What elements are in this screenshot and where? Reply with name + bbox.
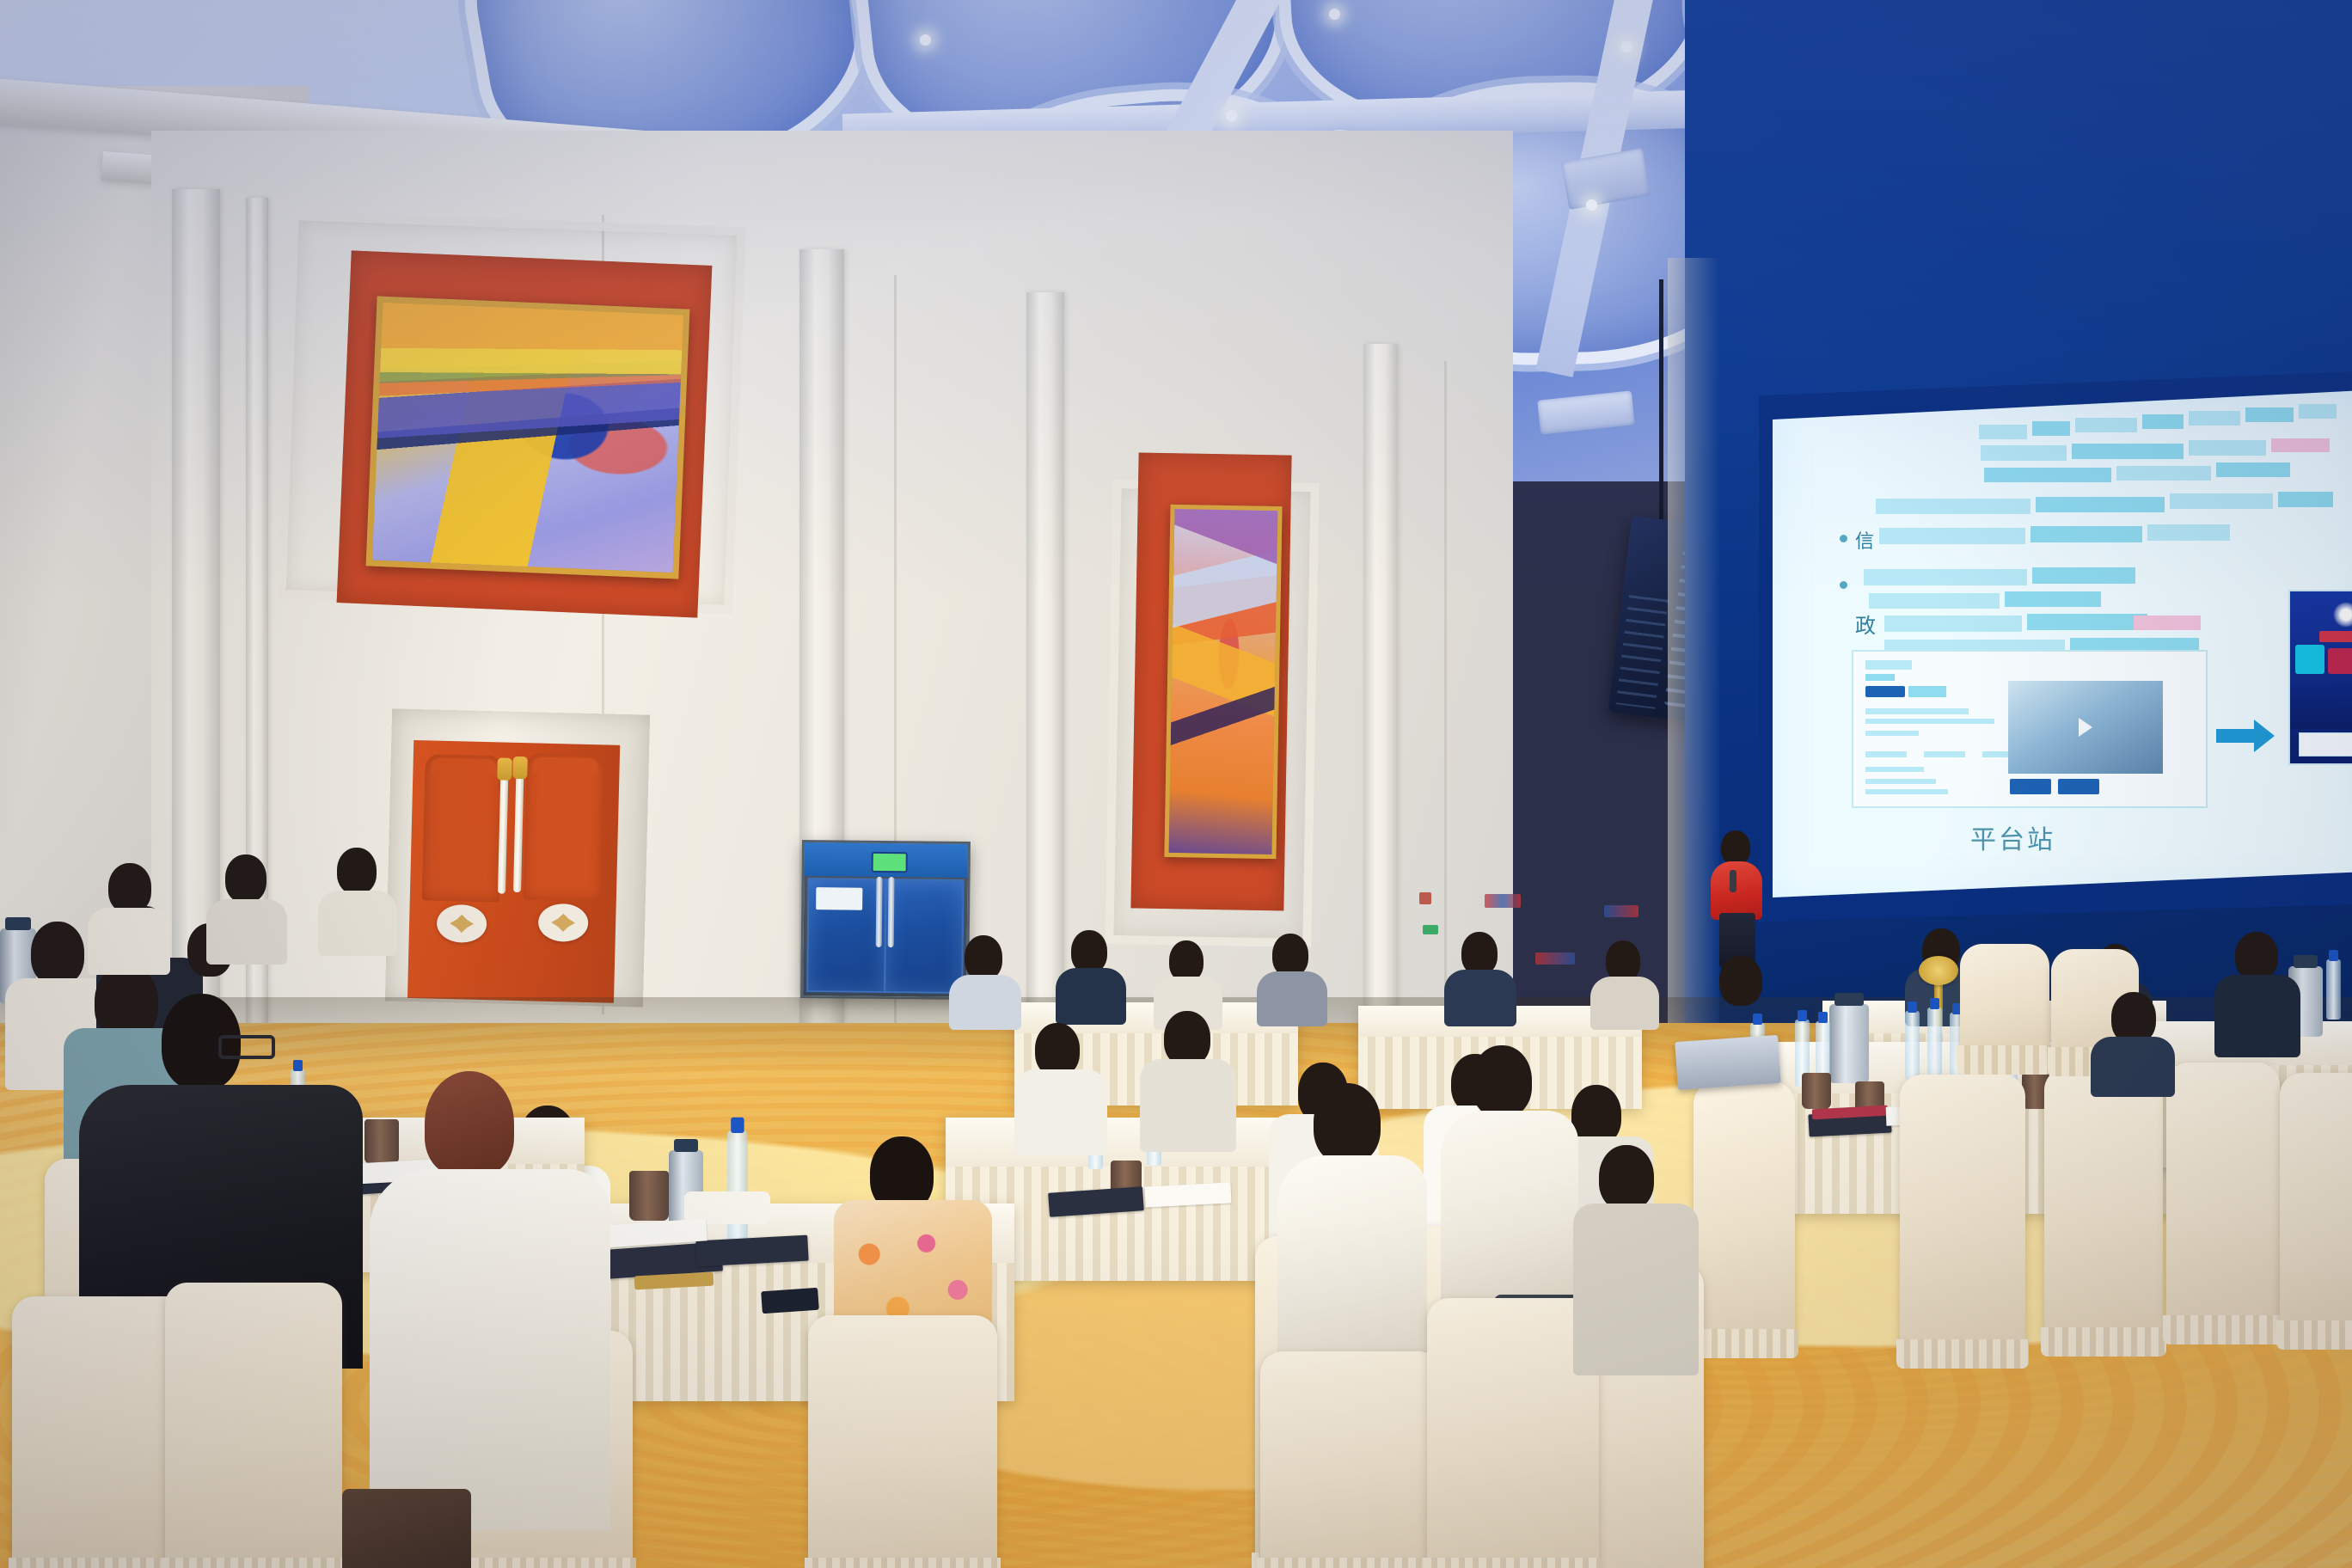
attendee-body [949,975,1021,1030]
attendee-head [1272,934,1308,977]
audience-right-cluster [1702,937,2352,1418]
slide-video-thumbnail [2008,681,2163,774]
cabinet-handle[interactable] [876,877,883,947]
water-bottle [2326,959,2341,1020]
attendee-head [1461,932,1498,975]
downlight [1621,41,1632,52]
slide-bullet-marker-2: 政 [1855,609,1876,639]
speaker-cable [1659,279,1663,537]
presenter-head [1721,830,1750,865]
attendee-head [1314,1083,1381,1164]
cabinet-display [872,852,908,873]
downlight [1329,9,1340,20]
attendee-body [1573,1204,1699,1375]
attendee-body [2091,1037,2175,1097]
audience-left-back [0,937,481,1135]
table-number-badge [1919,956,1958,985]
attendee-head [1071,930,1107,973]
flow-arrow-icon [2216,729,2256,743]
handbag [342,1489,471,1568]
door-panel [524,753,604,901]
attendee-body [88,908,170,975]
banquet-chair [808,1315,997,1568]
banquet-chair [2044,1068,2163,1338]
door-panel [422,754,503,902]
attendee-body [318,891,397,956]
cabinet-handle[interactable] [888,877,895,947]
water-bottle [727,1130,748,1241]
slide-card [1852,650,2208,808]
audience-right-front [1169,1049,1702,1568]
attendee-body [1441,1111,1578,1308]
banquet-chair [2280,1073,2352,1331]
banquet-chair [2166,1063,2280,1326]
cabinet-label [816,887,862,910]
attendee-body [1277,1155,1427,1379]
banquet-chair [165,1283,342,1568]
banquet-chair [1960,944,2049,1056]
artwork-vertical [1164,505,1282,859]
slide-caption: 平台站 [1970,818,2055,856]
attendee-head [2111,992,2156,1044]
slide-bullet-icon [1840,581,1847,589]
banquet-chair [1900,1075,2025,1350]
downlight [1586,199,1597,211]
artwork-landscape [366,297,690,579]
thermos-flask [1829,1004,1869,1083]
attendee-head [1606,940,1640,982]
slide-bullet-icon [1840,535,1847,542]
attendee-body [206,899,287,965]
attendee-head [1169,940,1204,982]
attendee-head [108,863,151,913]
conference-hall-photo: 信 政 [0,0,2352,1568]
attendee-body [370,1169,610,1530]
attendee-head [965,935,1002,980]
ceiling-vent [1537,390,1635,434]
projection-screen: 信 政 [1773,390,2352,897]
slide-app-screenshot [2288,590,2352,765]
attendee-body [2214,975,2300,1057]
laptop[interactable] [1675,1035,1781,1090]
attendee-head [337,848,377,894]
attendee-head [2235,932,2278,980]
wall-sign [1485,894,1521,908]
attendee-head [1472,1045,1532,1118]
tea-cup [629,1171,669,1221]
tea-cup [1802,1073,1831,1109]
smartphone [761,1288,819,1314]
slide-card-button-book[interactable] [2058,779,2099,794]
attendee-head [225,854,266,903]
emergency-button[interactable] [1419,892,1431,904]
slide-bullet-marker-1: 信 [1855,526,1874,554]
microphone [1730,870,1736,892]
water-bottle [1905,1011,1920,1080]
banquet-chair [1260,1351,1441,1568]
attendee-head [1599,1145,1654,1210]
water-bottle [1927,1008,1942,1078]
slide-card-button-watch[interactable] [2010,779,2051,794]
